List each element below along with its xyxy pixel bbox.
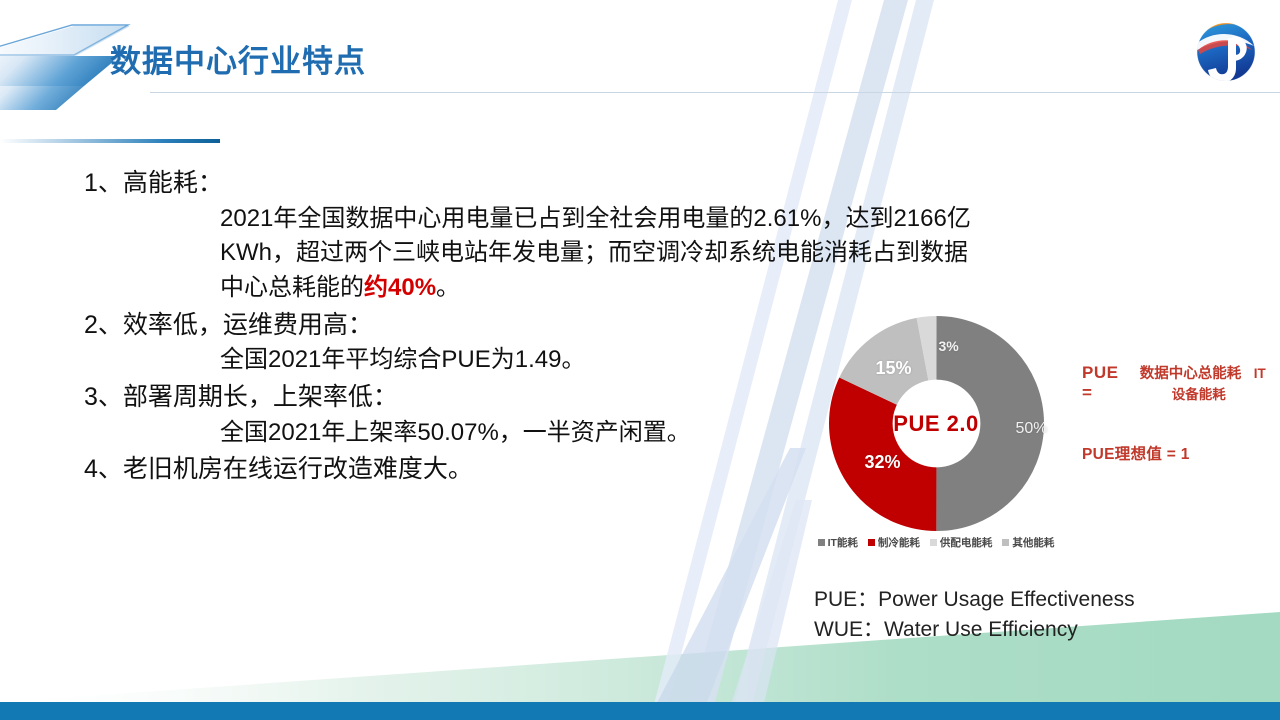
legend-label: 制冷能耗 [878,535,920,550]
company-globe-logo [1190,16,1262,88]
body-line: 中心总耗能的约40%。 [220,271,1094,306]
donut-value-label-cooling: 32% [865,452,901,473]
list-item-body: 2021年全国数据中心用电量已占到全社会用电量的2.61%，达到2166亿 KW… [84,202,1094,306]
list-item-heading: 1、高能耗： [84,166,1094,202]
pue-formula: PUE = 数据中心总能耗 IT设备能耗 PUE理想值 = 1 [1082,362,1272,464]
donut-value-label-it: 50% [1015,420,1047,438]
legend-item-cooling: 制冷能耗 [868,535,920,550]
formula-left-side: PUE = [1082,363,1122,403]
legend-item-other: 其他能耗 [1002,535,1054,550]
legend-swatch-icon [930,539,937,546]
body-line: KWh，超过两个三峡电站年发电量；而空调冷却系统电能消耗占到数据 [220,236,1094,271]
legend-item-power: 供配电能耗 [930,535,993,550]
header-hairline [150,92,1280,93]
legend-label: 供配电能耗 [940,535,993,550]
bottom-accent-bar [0,702,1280,720]
highlight-percent: 约40% [364,274,436,301]
donut-value-label-other: 3% [939,338,959,354]
legend-label: IT能耗 [828,535,858,550]
footnote-pue: PUE：Power Usage Effectiveness [814,585,1135,615]
chart-legend: IT能耗 制冷能耗 供配电能耗 其他能耗 [806,535,1066,550]
list-item: 1、高能耗： 2021年全国数据中心用电量已占到全社会用电量的2.61%，达到2… [84,166,1094,306]
legend-swatch-icon [818,539,825,546]
legend-label: 其他能耗 [1012,535,1054,550]
legend-swatch-icon [1002,539,1009,546]
donut-graphic: PUE 2.0 50% 32% 15% 3% [819,316,1054,531]
slide-header: 数据中心行业特点 [0,0,1280,150]
acronym-footnotes: PUE：Power Usage Effectiveness WUE：Water … [814,585,1135,646]
formula-equation: PUE = 数据中心总能耗 IT设备能耗 [1082,362,1272,404]
formula-numerator: 数据中心总能耗 [1136,366,1246,384]
donut-value-label-power: 15% [876,358,912,379]
slide: 数据中心行业特点 [0,0,1280,720]
pue-donut-chart: PUE 2.0 50% 32% 15% 3% IT能耗 制冷能耗 供配电能耗 其… [806,316,1066,550]
page-title: 数据中心行业特点 [110,36,366,81]
pue-ideal-value: PUE理想值 = 1 [1082,442,1272,464]
body-line: 2021年全国数据中心用电量已占到全社会用电量的2.61%，达到2166亿 [220,202,1094,237]
footnote-wue: WUE：Water Use Efficiency [814,615,1135,645]
title-accent-rule [0,139,220,143]
formula-fraction: 数据中心总能耗 IT设备能耗 [1130,362,1273,404]
legend-swatch-icon [868,539,875,546]
legend-item-it: IT能耗 [818,535,858,550]
